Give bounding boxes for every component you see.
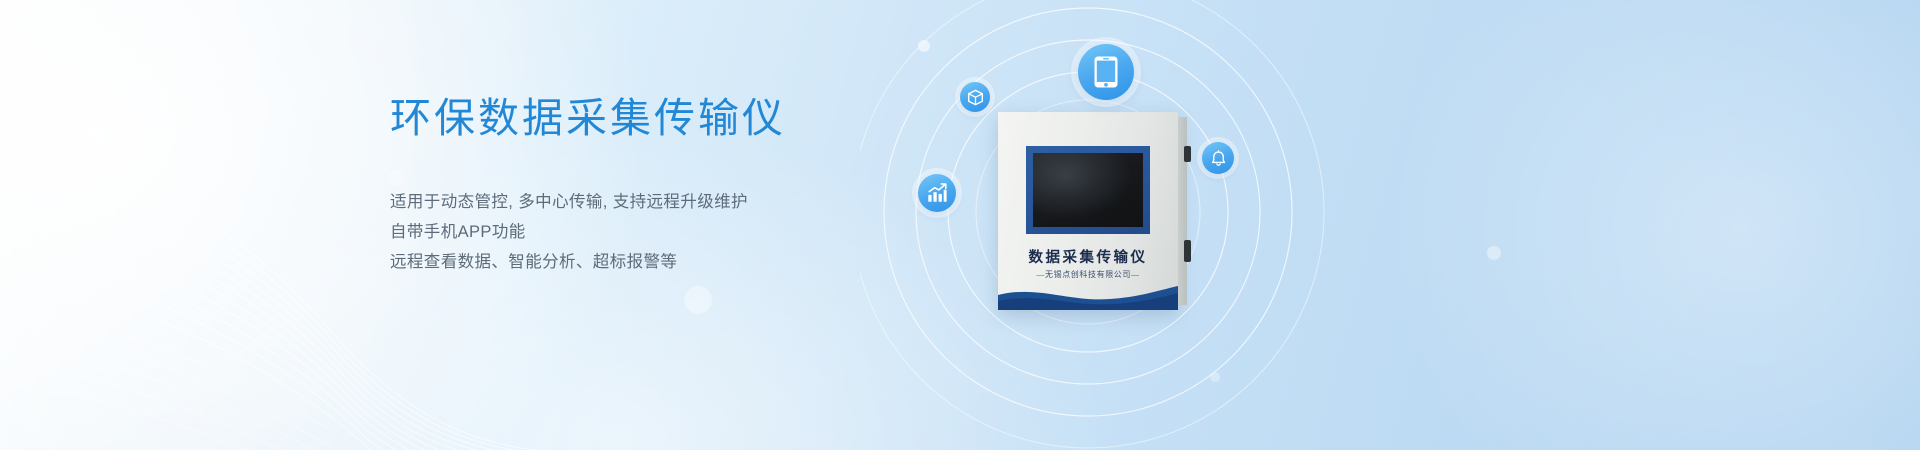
chart-icon-badge[interactable] (918, 174, 956, 212)
phone-icon (1093, 55, 1119, 89)
product-visual: 数据采集传输仪 —无锡点创科技有限公司— (860, 0, 1380, 450)
device-screen-frame (1026, 146, 1150, 234)
decor-bubble (684, 286, 712, 314)
alarm-icon-badge[interactable] (1202, 142, 1234, 174)
cube-icon (967, 89, 984, 106)
data-collector-device: 数据采集传输仪 —无锡点创科技有限公司— (998, 112, 1178, 310)
alarm-icon (1210, 150, 1227, 167)
device-label-company: —无锡点创科技有限公司— (998, 269, 1178, 280)
decor-bubble (1487, 246, 1501, 260)
product-banner: 环保数据采集传输仪 适用于动态管控, 多中心传输, 支持远程升级维护 自带手机A… (0, 0, 1920, 450)
device-bottom-band (998, 282, 1178, 310)
device-latch-top (1184, 146, 1191, 162)
device-label-title: 数据采集传输仪 (998, 246, 1178, 267)
chart-icon (926, 182, 948, 204)
background-glow-right (1380, 0, 1920, 450)
device-latch-bottom (1184, 240, 1191, 262)
cube-icon-badge[interactable] (960, 82, 990, 112)
phone-icon-badge[interactable] (1078, 44, 1134, 100)
device-screen (1033, 153, 1143, 227)
